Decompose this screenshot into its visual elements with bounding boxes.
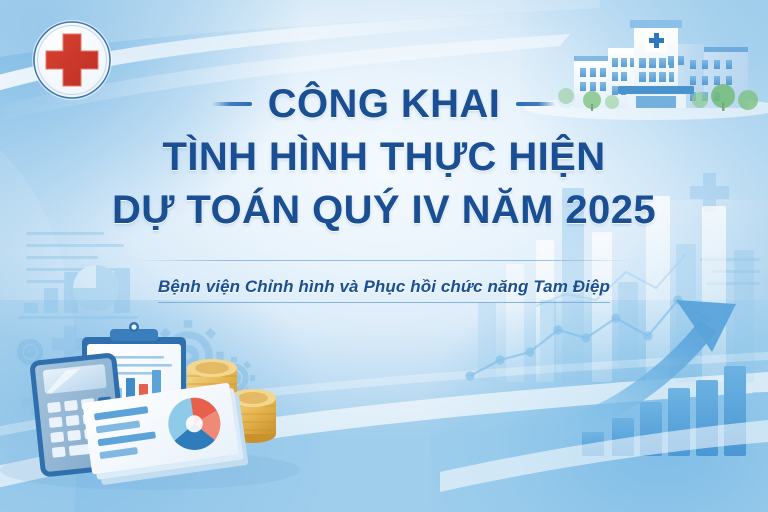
finance-illustration [0, 0, 768, 512]
growth-bar-chart-arrow-icon [0, 0, 768, 512]
headline-divider [136, 260, 632, 261]
coin-stack-icon [154, 359, 276, 460]
page-title-line-3: DỰ TOÁN QUÝ IV NĂM 2025 [0, 190, 768, 230]
banner-canvas: CÔNG KHAI TÌNH HÌNH THỰC HIỆN DỰ TOÁN QU… [0, 0, 768, 512]
title-dash-right [516, 102, 556, 106]
calculator-icon [32, 355, 125, 475]
rising-arrow-icon [560, 300, 736, 440]
gear-icon [20, 320, 256, 399]
background-wash-bottom-left [0, 300, 320, 512]
title-dash-left [212, 102, 252, 106]
background-swoosh-lines [0, 0, 768, 512]
title-line-1-row: CÔNG KHAI [0, 84, 768, 124]
watermark-decorations [0, 0, 768, 512]
report-sheet-pie-chart [82, 381, 248, 486]
hospital-building-icon [0, 0, 768, 512]
document-chart-watermark-icon [18, 232, 138, 319]
blue-cross-icon [645, 30, 667, 52]
background-wash-bottom-right [430, 300, 768, 512]
headline-block: CÔNG KHAI TÌNH HÌNH THỰC HIỆN DỰ TOÁN QU… [0, 84, 768, 230]
clipboard-icon [82, 322, 186, 463]
subtitle-block: Bệnh viện Chỉnh hình và Phục hồi chức nă… [0, 277, 768, 303]
page-title-line-1: CÔNG KHAI [268, 84, 501, 124]
page-title-line-2: TÌNH HÌNH THỰC HIỆN [0, 137, 768, 177]
organization-name: Bệnh viện Chỉnh hình và Phục hồi chức nă… [158, 277, 610, 303]
clipboard-bar-chart [96, 370, 168, 425]
